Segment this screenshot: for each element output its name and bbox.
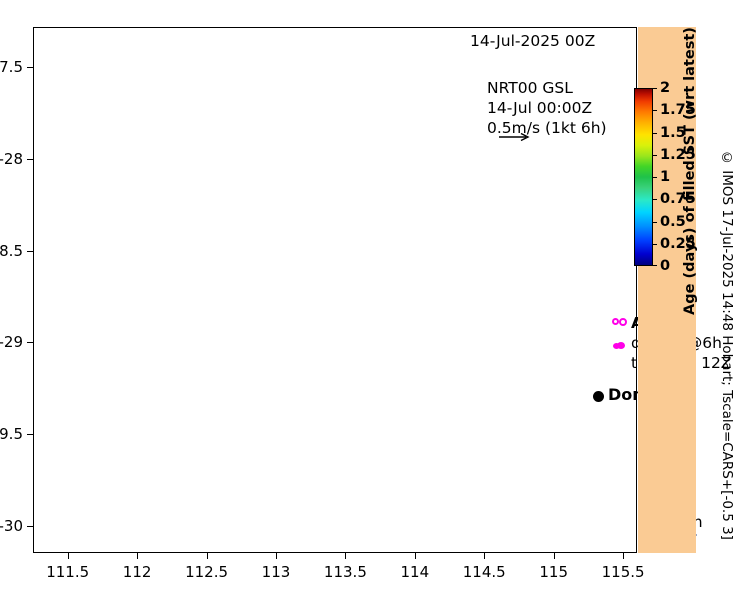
- x-axis-tick: [137, 553, 138, 559]
- x-axis-label: 112: [102, 563, 172, 581]
- city-marker-dongara: [593, 391, 604, 402]
- y-axis-label: -29: [0, 333, 23, 351]
- colorbar-tick-label: 1: [660, 169, 670, 185]
- x-axis-tick: [207, 553, 208, 559]
- model-info-block: NRT00 GSL 14-Jul 00:00Z 0.5m/s (1kt 6h): [487, 78, 607, 138]
- x-axis-label: 115.5: [588, 563, 658, 581]
- y-axis-tick: [27, 526, 33, 527]
- x-axis-label: 113: [241, 563, 311, 581]
- argo-open-circle-icon: [612, 318, 619, 325]
- y-axis-tick: [27, 67, 33, 68]
- x-axis-label: 114.5: [449, 563, 519, 581]
- x-axis-label: 113.5: [310, 563, 380, 581]
- y-axis-tick: [27, 251, 33, 252]
- x-axis-tick: [345, 553, 346, 559]
- x-axis-tick: [415, 553, 416, 559]
- x-axis-tick: [623, 553, 624, 559]
- argo-filled-dot-icon: [613, 343, 620, 349]
- y-axis-label: -28.5: [0, 242, 23, 260]
- model-name: NRT00 GSL: [487, 78, 607, 98]
- x-axis-tick: [68, 553, 69, 559]
- x-axis-label: 114: [380, 563, 450, 581]
- colorbar-tick: [653, 133, 657, 134]
- colorbar-tick: [653, 199, 657, 200]
- x-axis-tick: [276, 553, 277, 559]
- y-axis-tick: [27, 159, 33, 160]
- colorbar-tick: [653, 88, 657, 89]
- x-axis-label: 112.5: [172, 563, 242, 581]
- colorbar-tick-label: 2: [660, 80, 670, 96]
- x-axis-tick: [484, 553, 485, 559]
- colorbar-tick: [653, 110, 657, 111]
- vector-scale-arrow-icon: [498, 131, 532, 143]
- x-axis-label: 115: [519, 563, 589, 581]
- colorbar-tick: [653, 265, 657, 266]
- date-stamp: 14-Jul-2025 00Z: [470, 32, 595, 50]
- argo-float-marker-open[interactable]: [619, 318, 627, 326]
- colorbar: 21.751.51.2510.750.50.250: [634, 88, 653, 266]
- x-axis-label: 111.5: [33, 563, 103, 581]
- colorbar-tick: [653, 222, 657, 223]
- colorbar-tick: [653, 177, 657, 178]
- x-axis-tick: [554, 553, 555, 559]
- model-time: 14-Jul 00:00Z: [487, 98, 607, 118]
- credit-text: © IMOS 17-Jul-2025 14:48 Hobart; Tscale=…: [713, 150, 735, 570]
- colorbar-tick: [653, 155, 657, 156]
- y-axis-label: -29.5: [0, 425, 23, 443]
- y-axis-label: -28: [0, 150, 23, 168]
- y-axis-label: -27.5: [0, 58, 23, 76]
- colorbar-gradient: [634, 88, 653, 266]
- colorbar-title: Age (days) of filled SST (wrt latest): [679, 26, 701, 316]
- colorbar-tick-label: 0: [660, 258, 670, 274]
- y-axis-tick: [27, 434, 33, 435]
- y-axis-tick: [27, 342, 33, 343]
- colorbar-tick: [653, 244, 657, 245]
- y-axis-label: -30: [0, 517, 23, 535]
